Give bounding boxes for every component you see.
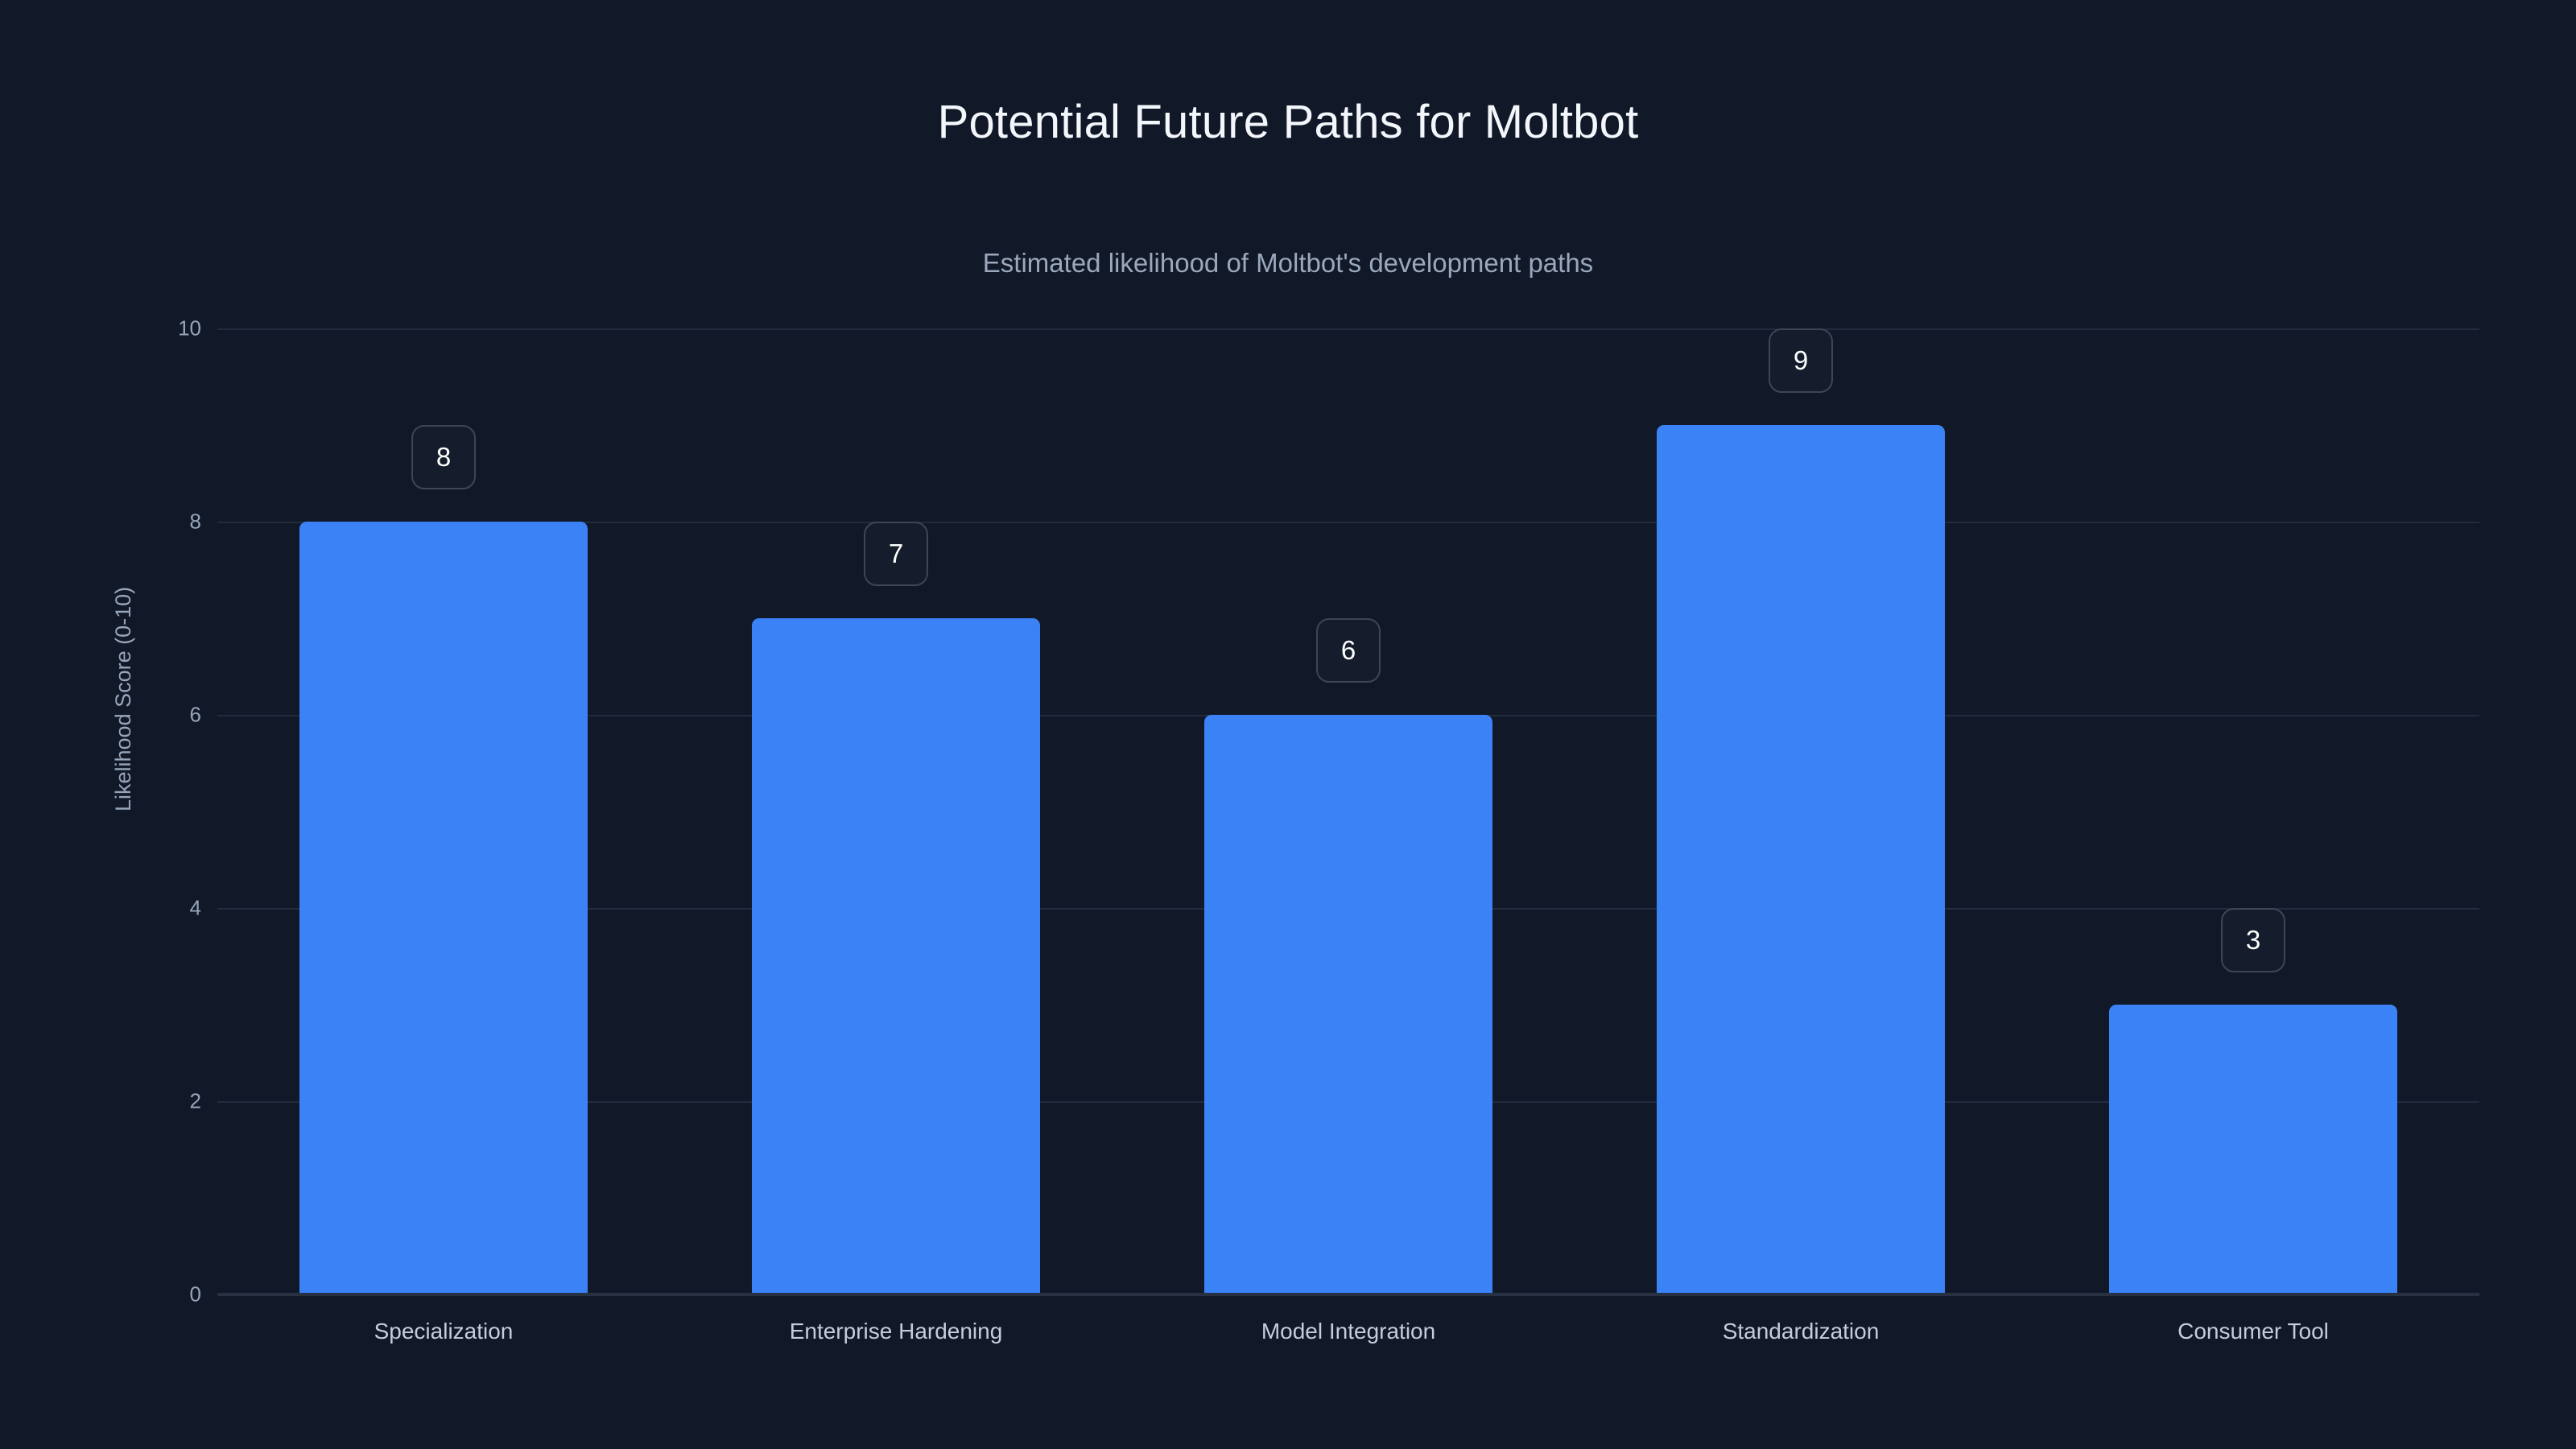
x-axis-tick: Specialization — [374, 1319, 514, 1344]
bar-value-badge: 8 — [411, 425, 476, 489]
y-axis-tick: 10 — [105, 316, 201, 341]
bar-value-badge: 3 — [2221, 908, 2285, 972]
y-axis-tick: 4 — [105, 896, 201, 921]
x-axis-tick: Consumer Tool — [2178, 1319, 2329, 1344]
x-axis-tick: Standardization — [1723, 1319, 1880, 1344]
y-axis-tick: 8 — [105, 510, 201, 535]
plot-area: 87693 — [217, 328, 2479, 1294]
bar[interactable] — [1657, 425, 1945, 1294]
bar-value-badge: 6 — [1316, 618, 1381, 683]
x-axis-line — [217, 1293, 2479, 1296]
y-axis-tick: 2 — [105, 1089, 201, 1114]
chart-subtitle: Estimated likelihood of Moltbot's develo… — [0, 248, 2576, 279]
x-axis-tick: Enterprise Hardening — [790, 1319, 1003, 1344]
bar-group[interactable]: 6 — [1204, 328, 1492, 1294]
bar-group[interactable]: 7 — [752, 328, 1040, 1294]
chart-page: Potential Future Paths for Moltbot Estim… — [0, 0, 2576, 1449]
bar-group[interactable]: 3 — [2109, 328, 2397, 1294]
bar[interactable] — [1204, 715, 1492, 1294]
page-title: Potential Future Paths for Moltbot — [0, 95, 2576, 149]
bar-value-badge: 9 — [1769, 328, 1833, 393]
bar[interactable] — [299, 522, 588, 1294]
x-axis-tick: Model Integration — [1261, 1319, 1435, 1344]
y-axis-title: Likelihood Score (0-10) — [111, 779, 136, 811]
y-axis-tick: 6 — [105, 703, 201, 728]
bar-group[interactable]: 8 — [299, 328, 588, 1294]
y-axis-tick: 0 — [105, 1282, 201, 1307]
bar[interactable] — [752, 618, 1040, 1294]
bar[interactable] — [2109, 1005, 2397, 1294]
bar-group[interactable]: 9 — [1657, 328, 1945, 1294]
bar-value-badge: 7 — [864, 522, 928, 586]
